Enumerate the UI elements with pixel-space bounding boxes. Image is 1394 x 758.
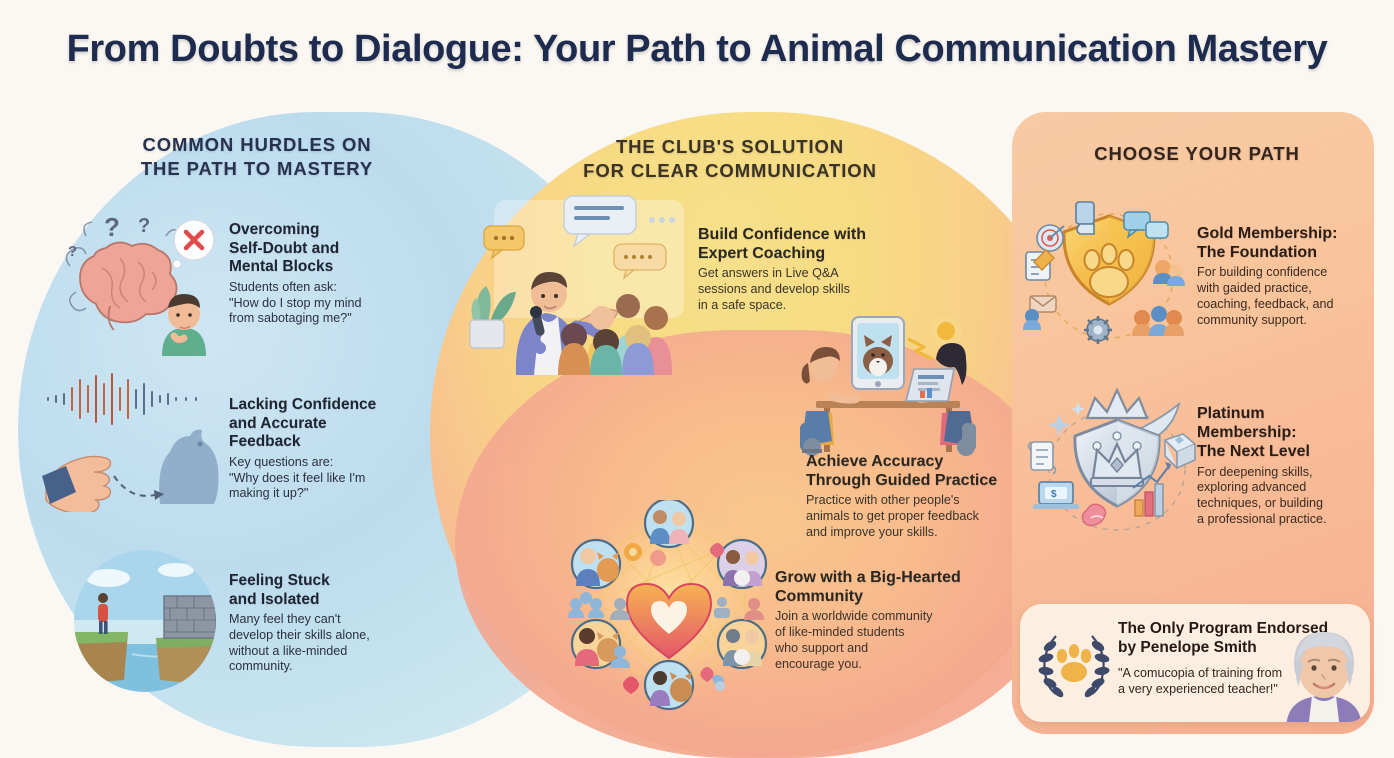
middle-heading-line-2: FOR CLEAR COMMUNICATION — [570, 159, 890, 183]
middle-item-2: Achieve Accuracy Through Guided Practice… — [806, 452, 1016, 541]
middle-item-1-title: Build Confidence with Expert Coaching — [698, 225, 898, 263]
left-item-1-body: Students often ask: "How do I stop my mi… — [229, 280, 399, 327]
speaker-audience-icon — [466, 190, 701, 375]
tangled-brain-icon: ? ? ? — [46, 196, 224, 361]
svg-text:$: $ — [1051, 489, 1057, 500]
middle-item-3-title: Grow with a Big-Hearted Community — [775, 568, 995, 606]
right-item-platinum-title: Platinum Membership: The Next Level — [1197, 404, 1372, 462]
platinum-crown-shield-icon: $ — [1025, 378, 1205, 543]
right-heading-line-1: CHOOSE YOUR PATH — [1032, 142, 1362, 166]
left-item-3: Feeling Stuck and Isolated Many feel the… — [229, 572, 414, 675]
right-item-gold: Gold Membership: The Foundation For buil… — [1197, 224, 1372, 328]
two-people-tablet-pet-icon — [790, 305, 985, 457]
middle-item-2-body: Practice with other people's animals to … — [806, 493, 1016, 540]
laurel-paw-badge-icon — [1034, 624, 1114, 702]
right-item-gold-body: For building confidence with gaided prac… — [1197, 265, 1372, 328]
community-heart-network-icon — [562, 500, 777, 710]
middle-heading-line-1: THE CLUB'S SOLUTION — [570, 135, 890, 159]
svg-text:?: ? — [104, 212, 120, 242]
gold-paw-shield-icon — [1020, 190, 1198, 350]
middle-item-2-title: Achieve Accuracy Through Guided Practice — [806, 452, 1016, 490]
right-item-platinum: Platinum Membership: The Next Level For … — [1197, 404, 1372, 528]
right-item-gold-title: Gold Membership: The Foundation — [1197, 224, 1372, 262]
left-column-heading: COMMON HURDLES ON THE PATH TO MASTERY — [92, 133, 422, 180]
left-heading-line-1: COMMON HURDLES ON — [92, 133, 422, 157]
left-item-1: Overcoming Self-Doubt and Mental Blocks … — [229, 221, 399, 327]
endorsement-card: The Only Program Endorsed by Penelope Sm… — [1020, 604, 1370, 722]
right-item-platinum-body: For deepening skills, exploring advanced… — [1197, 465, 1372, 528]
infographic-canvas: From Doubts to Dialogue: Your Path to An… — [0, 0, 1394, 758]
penelope-smith-portrait — [1276, 618, 1370, 722]
left-heading-line-2: THE PATH TO MASTERY — [92, 157, 422, 181]
svg-text:?: ? — [68, 243, 77, 260]
left-item-3-body: Many feel they can't develop their skill… — [229, 612, 414, 675]
cliff-gap-wall-icon — [72, 548, 218, 694]
left-item-1-title: Overcoming Self-Doubt and Mental Blocks — [229, 221, 399, 277]
left-item-3-title: Feeling Stuck and Isolated — [229, 572, 414, 609]
svg-text:?: ? — [138, 215, 150, 237]
middle-item-1: Build Confidence with Expert Coaching Ge… — [698, 225, 898, 314]
middle-column-heading: THE CLUB'S SOLUTION FOR CLEAR COMMUNICAT… — [570, 135, 890, 182]
left-item-2: Lacking Confidence and Accurate Feedback… — [229, 396, 409, 502]
left-item-2-body: Key questions are: "Why does it feel lik… — [229, 455, 409, 502]
right-column-heading: CHOOSE YOUR PATH — [1032, 142, 1362, 166]
middle-item-3-body: Join a worldwide community of like-minde… — [775, 609, 995, 672]
hand-pointing-dog-icon — [40, 372, 230, 512]
left-item-2-title: Lacking Confidence and Accurate Feedback — [229, 396, 409, 452]
page-title: From Doubts to Dialogue: Your Path to An… — [0, 28, 1394, 71]
middle-item-3: Grow with a Big-Hearted Community Join a… — [775, 568, 995, 672]
